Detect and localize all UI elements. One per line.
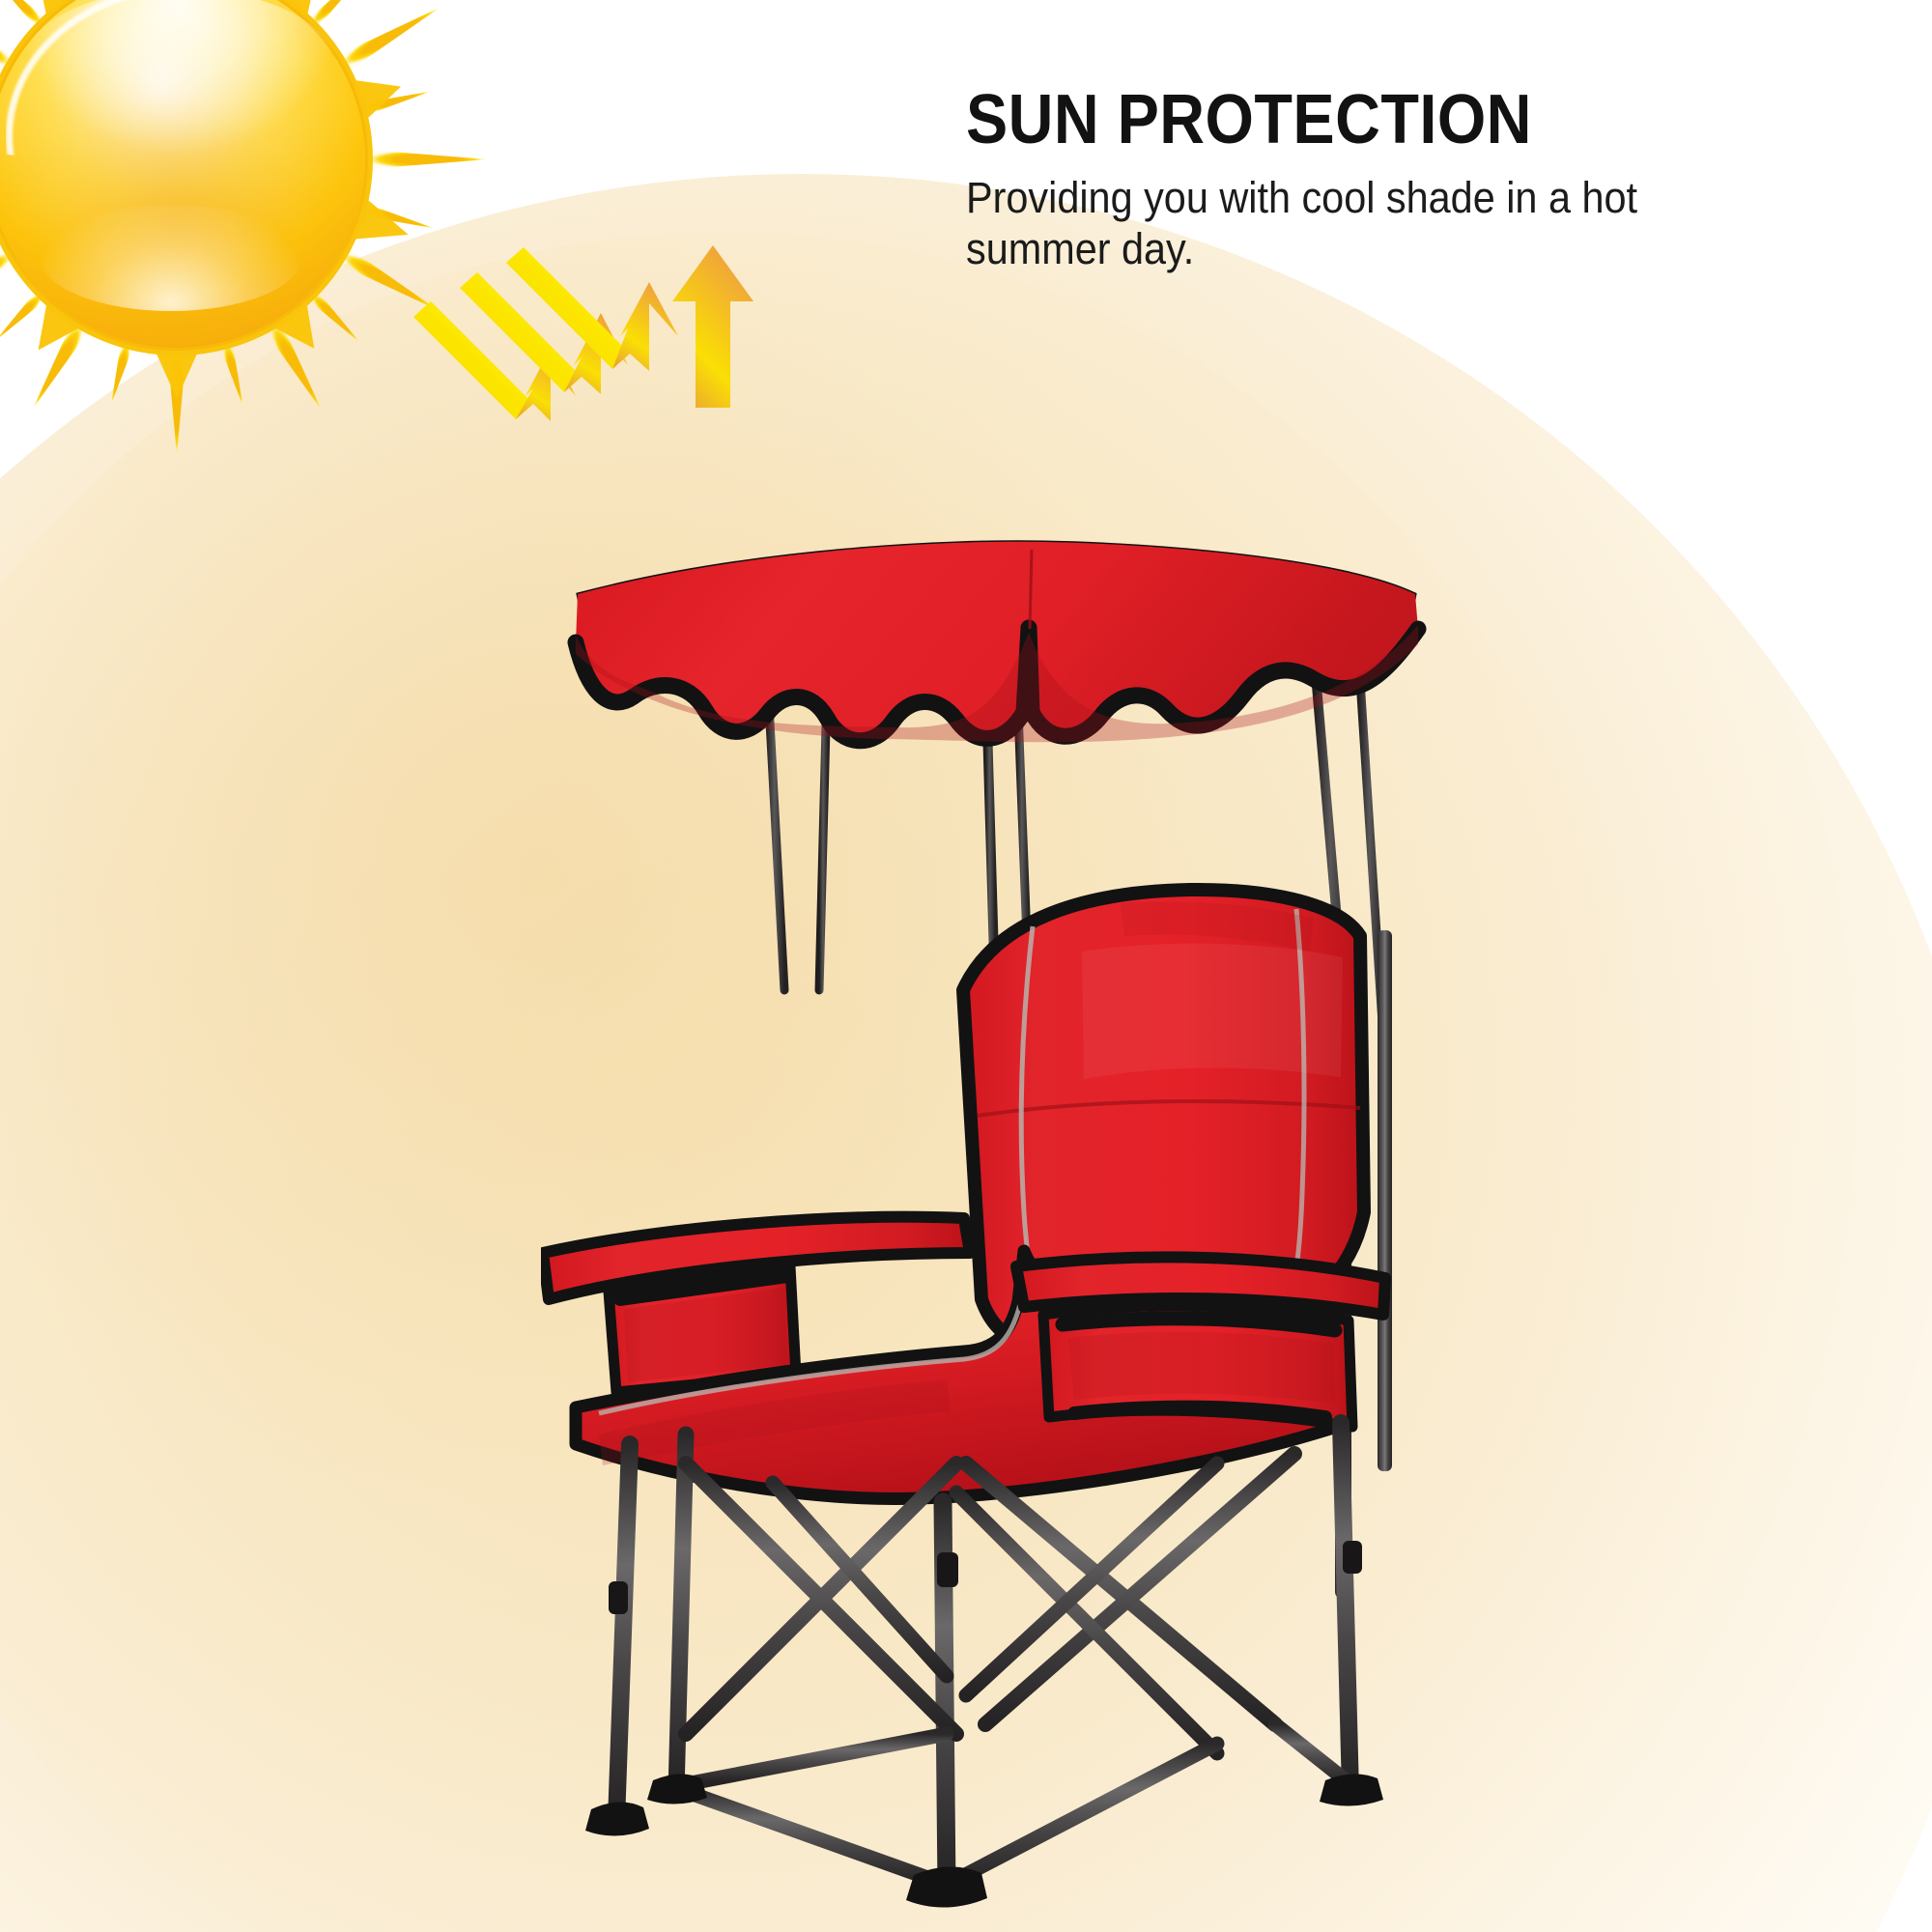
canopy: [576, 542, 1418, 743]
headline-block: SUN PROTECTION Providing you with cool s…: [966, 85, 1835, 274]
page-title: SUN PROTECTION: [966, 85, 1748, 155]
sun-highlight-bottom: [41, 205, 301, 311]
brace-j: [1275, 1724, 1350, 1784]
foot-cap-rear: [647, 1774, 707, 1804]
leg-right: [1341, 1423, 1350, 1792]
right-armrest: [1016, 1257, 1385, 1427]
product-banner-canvas: SUN PROTECTION Providing you with cool s…: [0, 0, 1932, 1932]
brace-l: [676, 1788, 947, 1885]
canopy-center-seam: [1030, 550, 1032, 629]
camp-chair-illustration: [541, 536, 1439, 1927]
brace-h: [696, 1734, 947, 1782]
foot-caps: [585, 1774, 1383, 1907]
page-subtitle: Providing you with cool shade in a hot s…: [966, 172, 1668, 274]
foot-cap-right: [1320, 1774, 1383, 1805]
leg-front-left: [616, 1444, 630, 1821]
foot-cap-left: [585, 1802, 649, 1835]
sunray-arrows-icon: [406, 241, 773, 512]
tube-collars: [609, 1541, 1362, 1614]
brace-k: [947, 1744, 1217, 1885]
